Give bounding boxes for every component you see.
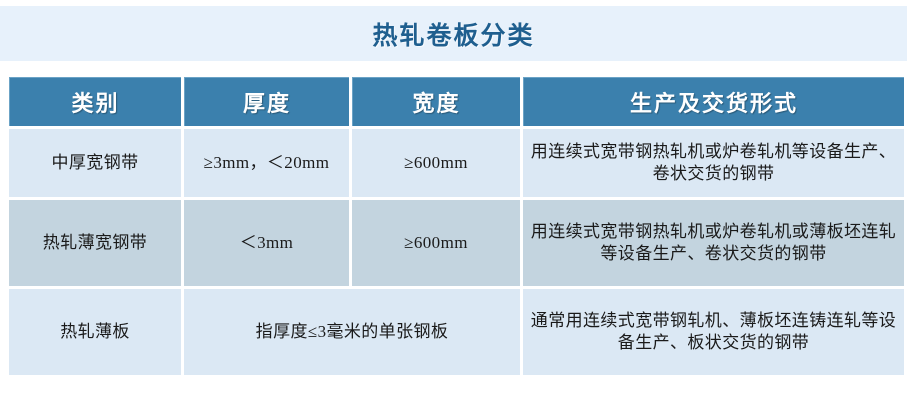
- column-header-thickness: 厚度: [184, 77, 349, 126]
- table-row: 中厚宽钢带 ≥3mm，＜20mm ≥600mm 用连续式宽带钢热轧机或炉卷轧机等…: [9, 129, 904, 197]
- page-title: 热轧卷板分类: [372, 16, 534, 52]
- cell-width: ≥600mm: [352, 200, 520, 286]
- cell-description: 用连续式宽带钢热轧机或炉卷轧机等设备生产、卷状交货的钢带: [523, 129, 904, 197]
- page-root: 热轧卷板分类 类别 厚度 宽度 生产及交货形式 中厚宽钢带: [0, 0, 907, 402]
- cell-thickness-width-merged: 指厚度≤3毫米的单张钢板: [184, 289, 520, 375]
- table-header-row: 类别 厚度 宽度 生产及交货形式: [9, 77, 904, 126]
- cell-category: 热轧薄板: [9, 289, 181, 375]
- table-row: 热轧薄宽钢带 ＜3mm ≥600mm 用连续式宽带钢热轧机或炉卷轧机或薄板坯连轧…: [9, 200, 904, 286]
- column-header-production-delivery: 生产及交货形式: [523, 77, 904, 126]
- cell-description: 用连续式宽带钢热轧机或炉卷轧机或薄板坯连轧等设备生产、卷状交货的钢带: [523, 200, 904, 286]
- table-row: 热轧薄板 指厚度≤3毫米的单张钢板 通常用连续式宽带钢轧机、薄板坯连铸连轧等设备…: [9, 289, 904, 375]
- column-header-width: 宽度: [352, 77, 520, 126]
- cell-thickness: ≥3mm，＜20mm: [184, 129, 349, 197]
- cell-category: 中厚宽钢带: [9, 129, 181, 197]
- cell-width: ≥600mm: [352, 129, 520, 197]
- classification-table: 类别 厚度 宽度 生产及交货形式 中厚宽钢带 ≥3mm，＜20mm ≥600mm…: [6, 74, 907, 378]
- cell-description: 通常用连续式宽带钢轧机、薄板坯连铸连轧等设备生产、板状交货的钢带: [523, 289, 904, 375]
- column-header-category: 类别: [9, 77, 181, 126]
- cell-thickness: ＜3mm: [184, 200, 349, 286]
- table-head: 类别 厚度 宽度 生产及交货形式: [9, 77, 904, 126]
- title-band: 热轧卷板分类: [0, 6, 907, 61]
- cell-category: 热轧薄宽钢带: [9, 200, 181, 286]
- classification-table-container: 类别 厚度 宽度 生产及交货形式 中厚宽钢带 ≥3mm，＜20mm ≥600mm…: [6, 74, 895, 378]
- table-body: 中厚宽钢带 ≥3mm，＜20mm ≥600mm 用连续式宽带钢热轧机或炉卷轧机等…: [9, 129, 904, 375]
